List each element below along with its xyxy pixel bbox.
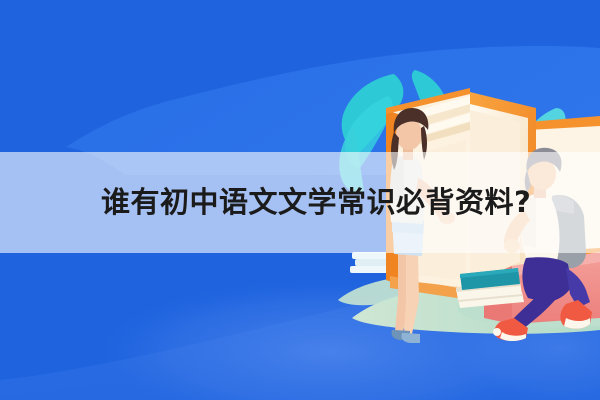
question-banner-image: 谁有初中语文文学常识必背资料?	[0, 0, 600, 400]
book-stack-teal	[456, 268, 524, 308]
page-title: 谁有初中语文文学常识必背资料?	[101, 188, 531, 217]
title-overlay-band: 谁有初中语文文学常识必背资料?	[0, 152, 600, 253]
